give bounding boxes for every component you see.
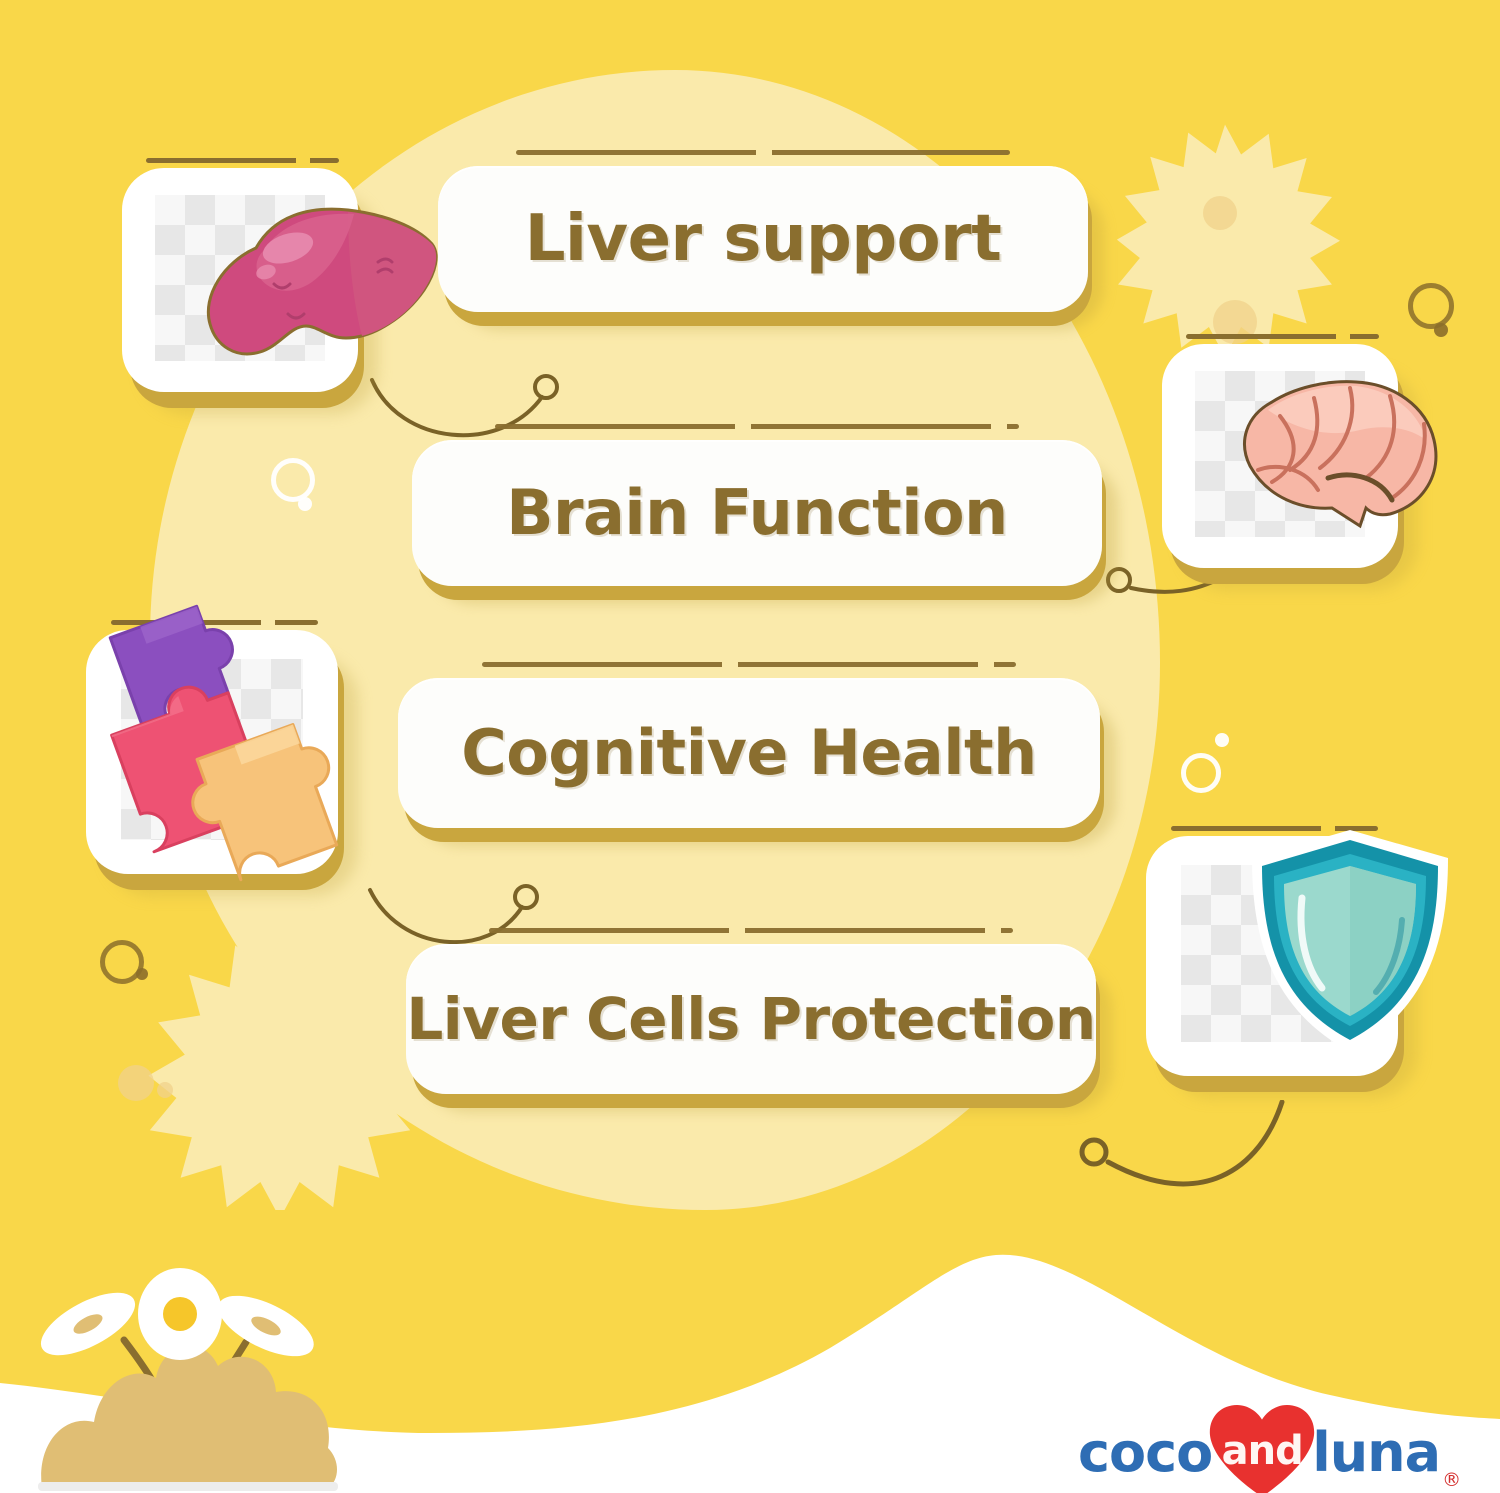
logo-word-luna: luna [1312,1426,1440,1480]
logo-word-and: and [1208,1431,1316,1471]
connector-line-liver [360,335,580,455]
tile-face [1146,836,1398,1076]
decor-white-ring-right [1181,753,1221,793]
benefit-label-2: Brain Function [506,482,1008,544]
checkerboard-pattern [121,659,302,840]
card-face: Brain Function [412,440,1102,586]
benefit-card-4[interactable]: Liver Cells Protection [406,944,1096,1094]
decor-white-dot-right [1215,733,1229,747]
brand-logo: coco and luna ® [1078,1405,1461,1493]
tile-top-stitch [1186,334,1380,339]
icon-tile-puzzle [86,630,338,874]
benefit-label-1: Liver support [525,207,1002,271]
logo-heart: and [1208,1405,1316,1493]
decor-white-dot-left [298,497,312,511]
decor-dot-top-right [1434,323,1448,337]
decor-ring-top-right [1408,283,1454,329]
benefit-label-4: Liver Cells Protection [406,990,1095,1048]
tile-face [122,168,358,392]
benefit-card-2[interactable]: Brain Function [412,440,1102,586]
checkerboard-pattern [155,195,325,361]
card-face: Cognitive Health [398,678,1100,828]
decor-dot-bottom-left [136,968,148,980]
card-top-stitch [489,928,1013,933]
decor-soft-dot-1 [1203,196,1237,230]
checkerboard-pattern [1195,371,1365,537]
card-face: Liver support [438,166,1088,312]
tile-top-stitch [111,620,318,625]
registered-mark-icon: ® [1442,1469,1461,1491]
tile-face [1162,344,1398,568]
icon-tile-brain [1162,344,1398,568]
benefit-card-1[interactable]: Liver support [438,166,1088,312]
icon-tile-shield [1146,836,1398,1076]
benefit-label-3: Cognitive Health [461,722,1037,784]
benefits-infographic: Liver support Brain Function Cognitive H… [0,0,1500,1493]
benefit-card-3[interactable]: Cognitive Health [398,678,1100,828]
tile-top-stitch [146,158,340,163]
card-top-stitch [482,662,1016,667]
tile-top-stitch [1171,826,1378,831]
logo-word-coco: coco [1078,1426,1212,1480]
card-face: Liver Cells Protection [406,944,1096,1094]
icon-tile-liver [122,168,358,392]
card-top-stitch [516,150,1010,155]
decor-white-ring-left [271,458,315,502]
decor-soft-dot-3 [118,1065,154,1101]
card-top-stitch [495,424,1019,429]
decor-soft-dot-4 [157,1082,173,1098]
checkerboard-pattern [1181,865,1362,1043]
tile-face [86,630,338,874]
